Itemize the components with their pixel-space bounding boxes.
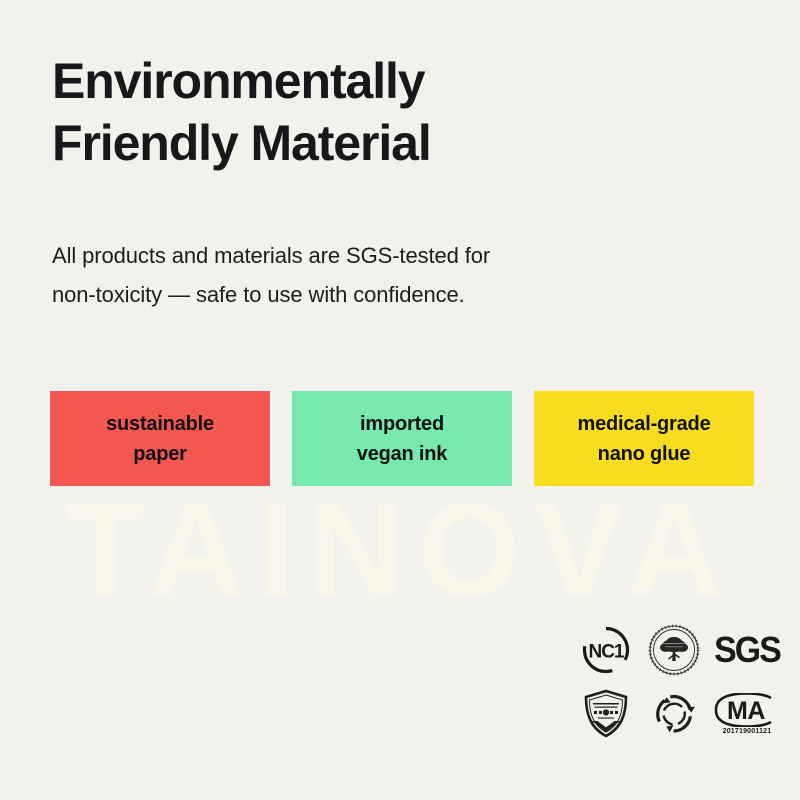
page-title-line-2: Friendly Material	[52, 112, 712, 174]
svg-text:NC1: NC1	[588, 642, 624, 663]
material-tag-line-2: nano glue	[598, 439, 691, 469]
certification-badge-grid: NC1	[575, 620, 783, 744]
nc1-certification-icon: NC1	[575, 620, 637, 680]
cma-certification-icon: MA 201719001121	[711, 684, 783, 744]
svg-text:MA: MA	[727, 697, 765, 725]
material-tag-line-1: medical-grade	[577, 409, 710, 439]
material-tag-sustainable-paper: sustainable paper	[50, 391, 270, 486]
brand-watermark: TAINOVA	[0, 487, 800, 612]
page-subtitle-line-2: non-toxicity — safe to use with confiden…	[52, 275, 672, 314]
material-tag-medical-grade-nano-glue: medical-grade nano glue	[534, 391, 754, 486]
page-title-line-1: Environmentally	[52, 50, 712, 112]
promotional-banner: TAINOVA Environmentally Friendly Materia…	[0, 0, 800, 800]
sgs-logo-text: SGS	[714, 632, 780, 668]
page-title: Environmentally Friendly Material	[52, 50, 712, 174]
material-tag-imported-vegan-ink: imported vegan ink	[292, 391, 512, 486]
tree-seal-certification-icon	[643, 620, 705, 680]
material-tag-line-2: paper	[133, 439, 186, 469]
material-tag-row: sustainable paper imported vegan ink med…	[50, 391, 754, 486]
cma-certificate-number: 201719001121	[723, 728, 772, 735]
sgs-certification-icon: SGS	[711, 620, 783, 680]
material-tag-line-1: imported	[360, 409, 444, 439]
material-tag-line-1: sustainable	[106, 409, 214, 439]
material-tag-line-2: vegan ink	[357, 439, 447, 469]
page-subtitle: All products and materials are SGS-teste…	[52, 236, 672, 314]
page-subtitle-line-1: All products and materials are SGS-teste…	[52, 236, 672, 275]
recycling-certification-icon	[643, 684, 705, 744]
shield-certification-icon	[575, 684, 637, 744]
